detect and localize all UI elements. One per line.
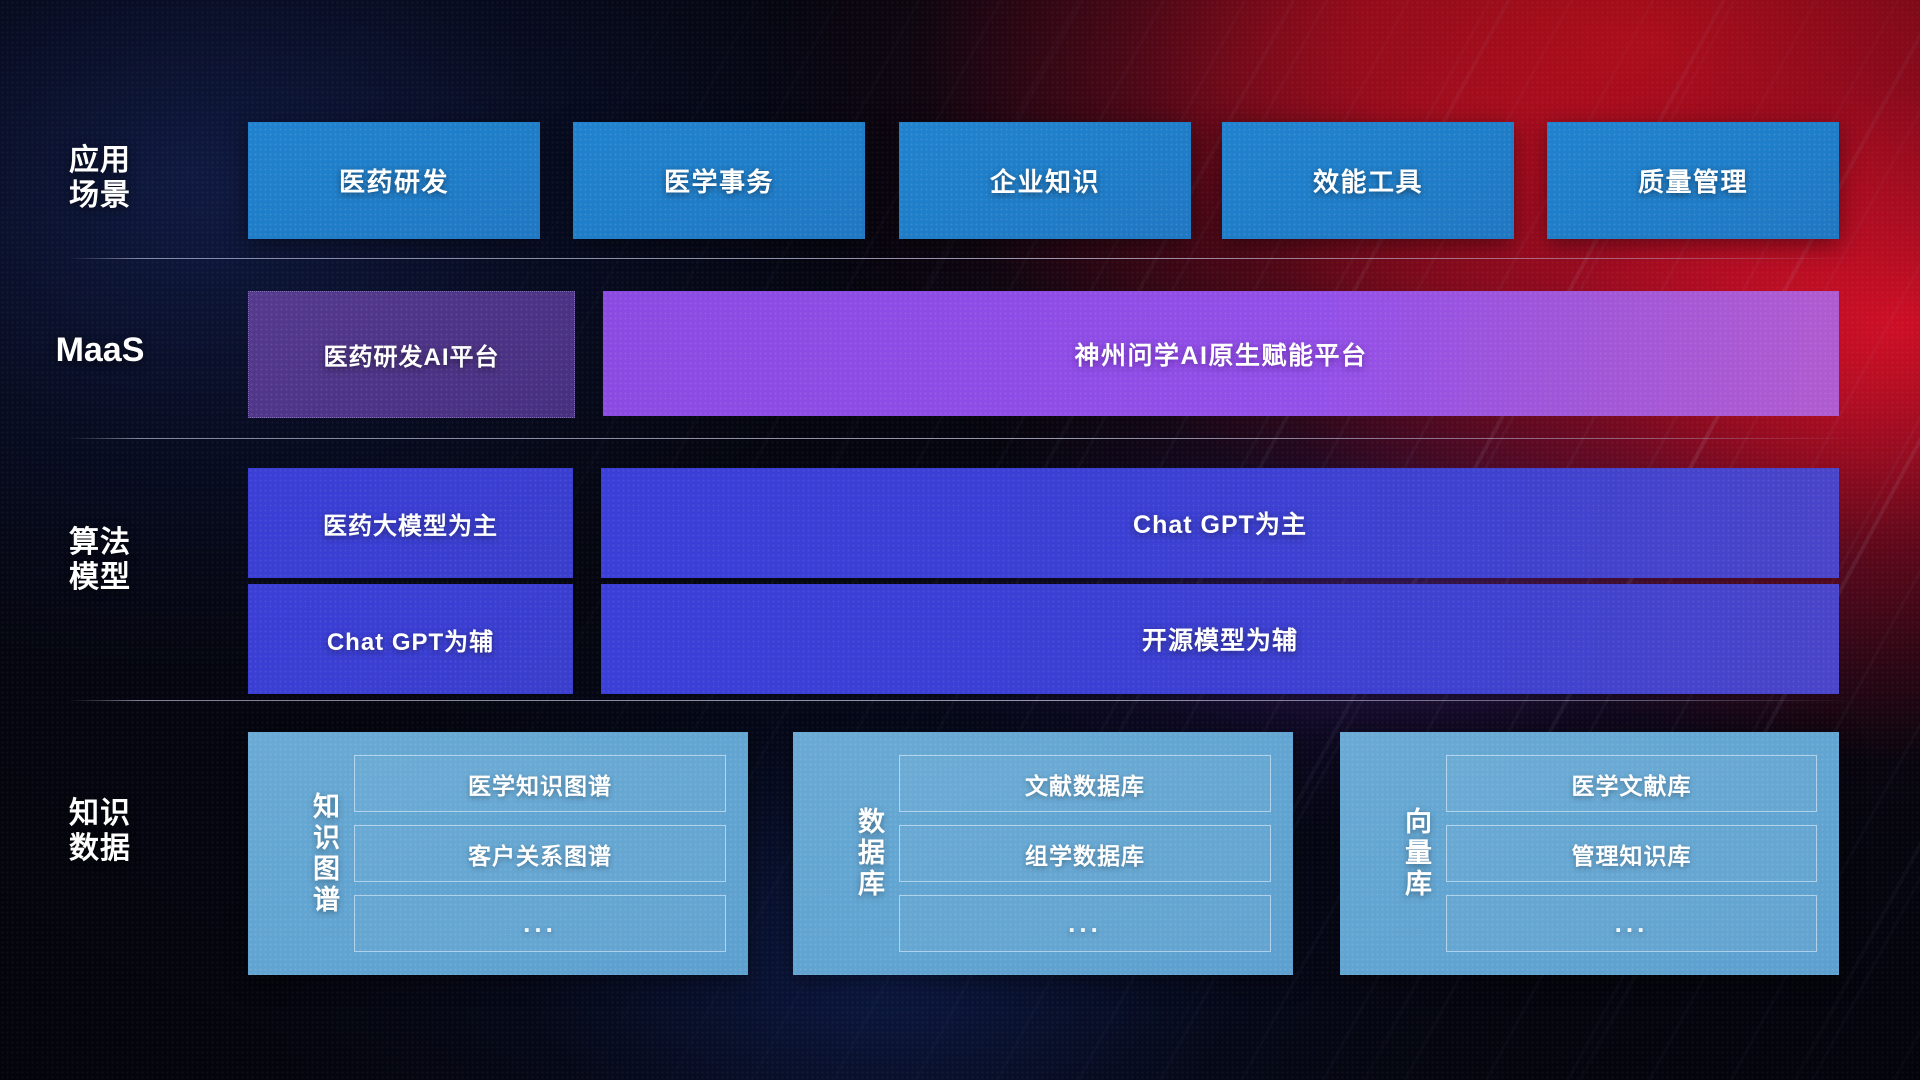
knowledge-item-more[interactable]: ... [1446, 895, 1817, 952]
knowledge-item[interactable]: 医学文献库 [1446, 755, 1817, 812]
maas-box-shenzhou-wenxue-platform[interactable]: 神州问学AI原生赋能平台 [603, 291, 1839, 416]
row-maas: MaaS 医药研发AI平台 神州问学AI原生赋能平台 [0, 291, 1920, 416]
row-label-line1: 知识 [0, 797, 200, 832]
algo-box-drug-large-model-primary[interactable]: 医药大模型为主 [248, 468, 573, 578]
knowledge-item[interactable]: 组学数据库 [899, 825, 1271, 882]
knowledge-panel-database[interactable]: 数据库 文献数据库 组学数据库 ... [793, 732, 1293, 975]
app-box-quality-management[interactable]: 质量管理 [1547, 122, 1839, 239]
algo-box-chatgpt-primary[interactable]: Chat GPT为主 [601, 468, 1839, 578]
knowledge-panel-items: 医学知识图谱 客户关系图谱 ... [340, 755, 748, 952]
knowledge-item[interactable]: 文献数据库 [899, 755, 1271, 812]
knowledge-panel-knowledge-graph[interactable]: 知识图谱 医学知识图谱 客户关系图谱 ... [248, 732, 748, 975]
knowledge-panel-vector-db[interactable]: 向量库 医学文献库 管理知识库 ... [1340, 732, 1839, 975]
divider-3 [68, 700, 1858, 701]
row-label-line2: 场景 [0, 179, 200, 214]
row-label-line2: 数据 [0, 832, 200, 867]
algo-box-chatgpt-secondary[interactable]: Chat GPT为辅 [248, 584, 573, 694]
knowledge-item[interactable]: 管理知识库 [1446, 825, 1817, 882]
app-box-drug-rnd[interactable]: 医药研发 [248, 122, 540, 239]
row-algorithm-models: 算法 模型 医药大模型为主 Chat GPT为主 Chat GPT为辅 开源模型… [0, 468, 1920, 698]
divider-2 [68, 438, 1858, 439]
row-label-maas: MaaS [0, 331, 200, 370]
knowledge-panel-items: 文献数据库 组学数据库 ... [885, 755, 1293, 952]
app-box-medical-affairs[interactable]: 医学事务 [573, 122, 865, 239]
knowledge-panel-title: 知识图谱 [270, 792, 340, 916]
row-label-algorithm-models: 算法 模型 [0, 526, 200, 596]
knowledge-item[interactable]: 客户关系图谱 [354, 825, 726, 882]
row-label-knowledge-data: 知识 数据 [0, 797, 200, 867]
row-label-line2: 模型 [0, 561, 200, 596]
knowledge-item[interactable]: 医学知识图谱 [354, 755, 726, 812]
architecture-diagram: 应用 场景 医药研发 医学事务 企业知识 效能工具 质量管理 MaaS 医药研发… [0, 0, 1920, 1080]
knowledge-item-more[interactable]: ... [354, 895, 726, 952]
row-label-line1: 应用 [0, 144, 200, 179]
knowledge-panel-title: 数据库 [815, 807, 885, 900]
row-label-line1: 算法 [0, 526, 200, 561]
algo-box-opensource-model-secondary[interactable]: 开源模型为辅 [601, 584, 1839, 694]
app-box-enterprise-knowledge[interactable]: 企业知识 [899, 122, 1191, 239]
knowledge-item-more[interactable]: ... [899, 895, 1271, 952]
knowledge-panel-items: 医学文献库 管理知识库 ... [1432, 755, 1839, 952]
row-label-application-scenarios: 应用 场景 [0, 144, 200, 214]
knowledge-panel-title: 向量库 [1362, 807, 1432, 900]
row-knowledge-data: 知识 数据 知识图谱 医学知识图谱 客户关系图谱 ... 数据库 文献数据库 组… [0, 732, 1920, 975]
app-box-efficiency-tools[interactable]: 效能工具 [1222, 122, 1514, 239]
maas-box-drug-rnd-ai-platform[interactable]: 医药研发AI平台 [248, 291, 575, 418]
row-application-scenarios: 应用 场景 医药研发 医学事务 企业知识 效能工具 质量管理 [0, 122, 1920, 239]
divider-1 [68, 258, 1858, 259]
